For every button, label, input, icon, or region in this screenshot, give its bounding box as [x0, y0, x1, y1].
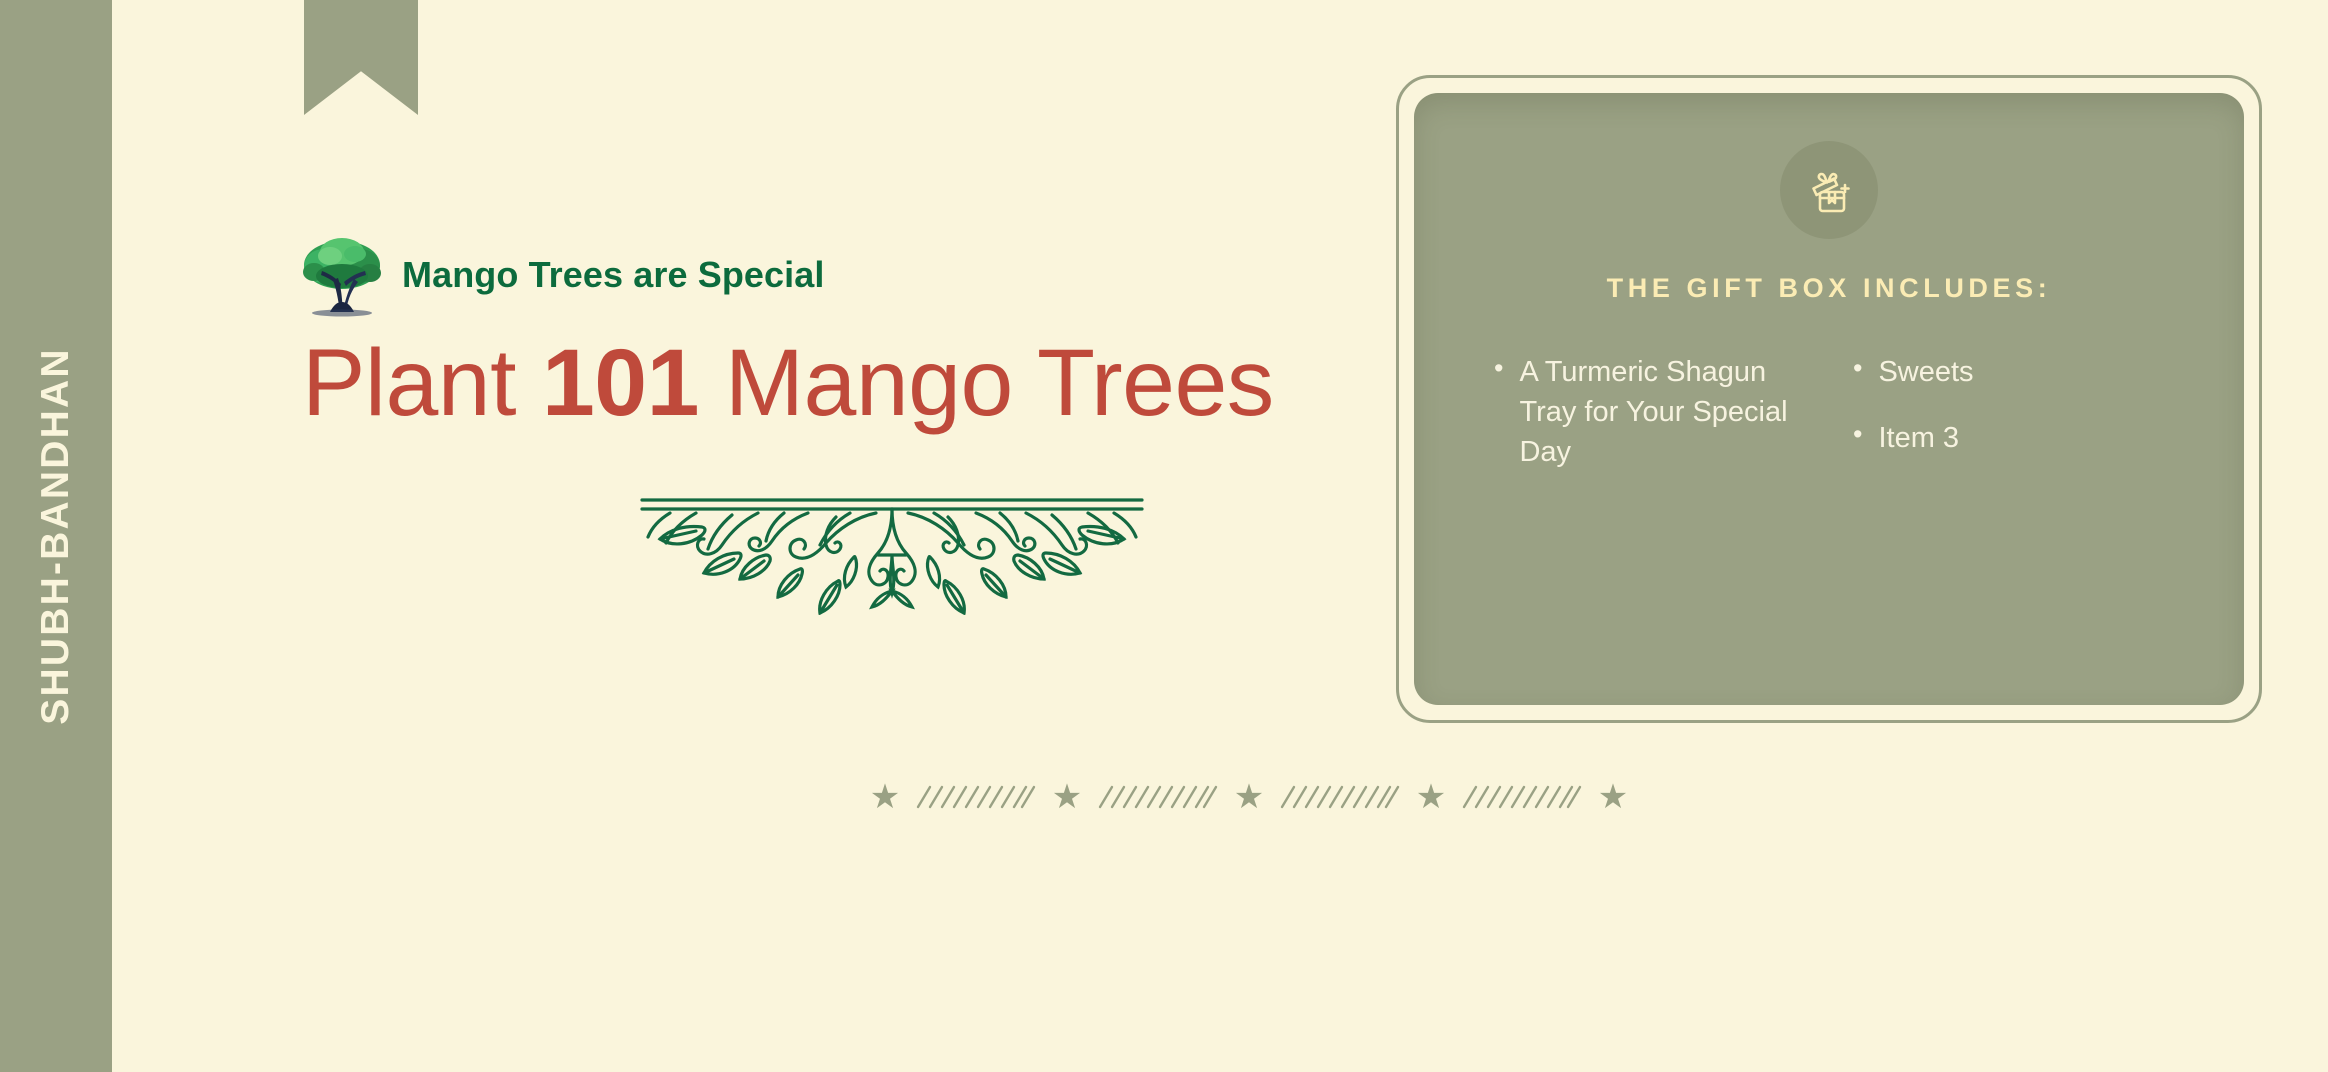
headline-prefix: Plant	[302, 330, 542, 436]
tagline-text: Mango Trees are Special	[402, 254, 825, 296]
poster-canvas: SHUBH-BANDHAN Mango Tr	[0, 0, 2328, 1072]
list-item-label: Sweets	[1878, 352, 1973, 392]
gift-card: THE GIFT BOX INCLUDES: • A Turmeric Shag…	[1414, 93, 2244, 705]
bullet-icon: •	[1853, 352, 1862, 386]
star-icon: ★	[1590, 780, 1636, 814]
hatch-marks-icon	[1096, 782, 1220, 812]
list-item-label: Item 3	[1878, 418, 1959, 458]
list-item: • Item 3	[1853, 418, 2188, 458]
star-icon: ★	[1408, 780, 1454, 814]
hatch-marks-icon	[1278, 782, 1402, 812]
floral-flourish-ornament	[640, 495, 1144, 615]
star-hatch-divider: ★ ★ ★	[862, 780, 1636, 814]
hatch-marks-icon	[1460, 782, 1584, 812]
mango-tree-icon	[300, 232, 384, 318]
gift-icon-badge	[1780, 141, 1878, 239]
bullet-icon: •	[1853, 418, 1862, 452]
hatch-marks-icon	[914, 782, 1038, 812]
gift-items-column-1: • A Turmeric Shagun Tray for Your Specia…	[1494, 352, 1829, 498]
gift-box-sparkle-icon	[1801, 162, 1857, 218]
star-icon: ★	[1044, 780, 1090, 814]
page-title: Plant 101 Mango Trees	[302, 330, 1274, 436]
bullet-icon: •	[1494, 352, 1503, 386]
list-item: • A Turmeric Shagun Tray for Your Specia…	[1494, 352, 1829, 472]
star-icon: ★	[862, 780, 908, 814]
list-item: • Sweets	[1853, 352, 2188, 392]
gift-items-column-2: • Sweets • Item 3	[1853, 352, 2188, 498]
gift-items-list: • A Turmeric Shagun Tray for Your Specia…	[1470, 352, 2188, 498]
brand-rail: SHUBH-BANDHAN	[0, 0, 112, 1072]
gift-card-title: THE GIFT BOX INCLUDES:	[1470, 273, 2188, 304]
list-item-label: A Turmeric Shagun Tray for Your Special …	[1519, 352, 1809, 472]
star-icon: ★	[1226, 780, 1272, 814]
headline-suffix: Mango Trees	[699, 330, 1274, 436]
brand-rail-label: SHUBH-BANDHAN	[0, 0, 112, 1072]
hero-section: Mango Trees are Special Plant 101 Mango …	[112, 0, 1392, 1072]
headline-count: 101	[542, 330, 699, 436]
tagline-row: Mango Trees are Special	[300, 232, 825, 318]
